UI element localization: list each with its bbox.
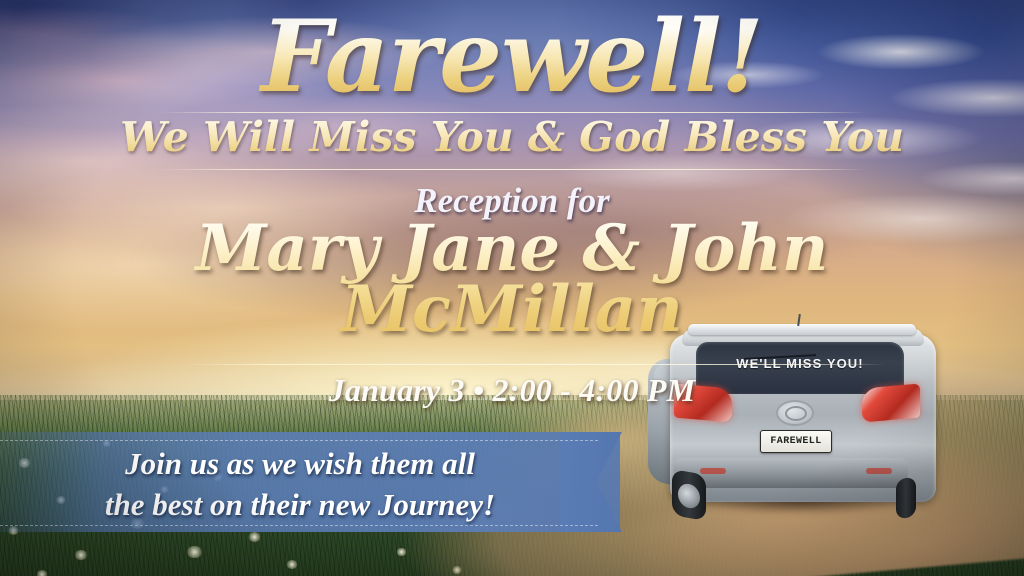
event-datetime: January 3 • 2:00 - 4:00 PM — [0, 372, 1024, 409]
divider-bottom — [184, 364, 884, 365]
page-title: Farewell! — [0, 8, 1024, 107]
ribbon-message-line2: the best on their new Journey! — [30, 485, 570, 526]
honoree-names: Mary Jane & John McMillan — [0, 218, 1024, 341]
ribbon-message-line1: Join us as we wish them all — [30, 444, 570, 485]
farewell-flyer: WE'LL MISS YOU! FAREWELL Farewell! We Wi… — [0, 0, 1024, 576]
honoree-names-line2: McMillan — [0, 279, 1024, 340]
divider-middle — [158, 169, 866, 170]
subtitle: We Will Miss You & God Bless You — [0, 114, 1024, 161]
ribbon-message: Join us as we wish them all the best on … — [30, 444, 570, 526]
honoree-names-line1: Mary Jane & John — [0, 218, 1024, 279]
